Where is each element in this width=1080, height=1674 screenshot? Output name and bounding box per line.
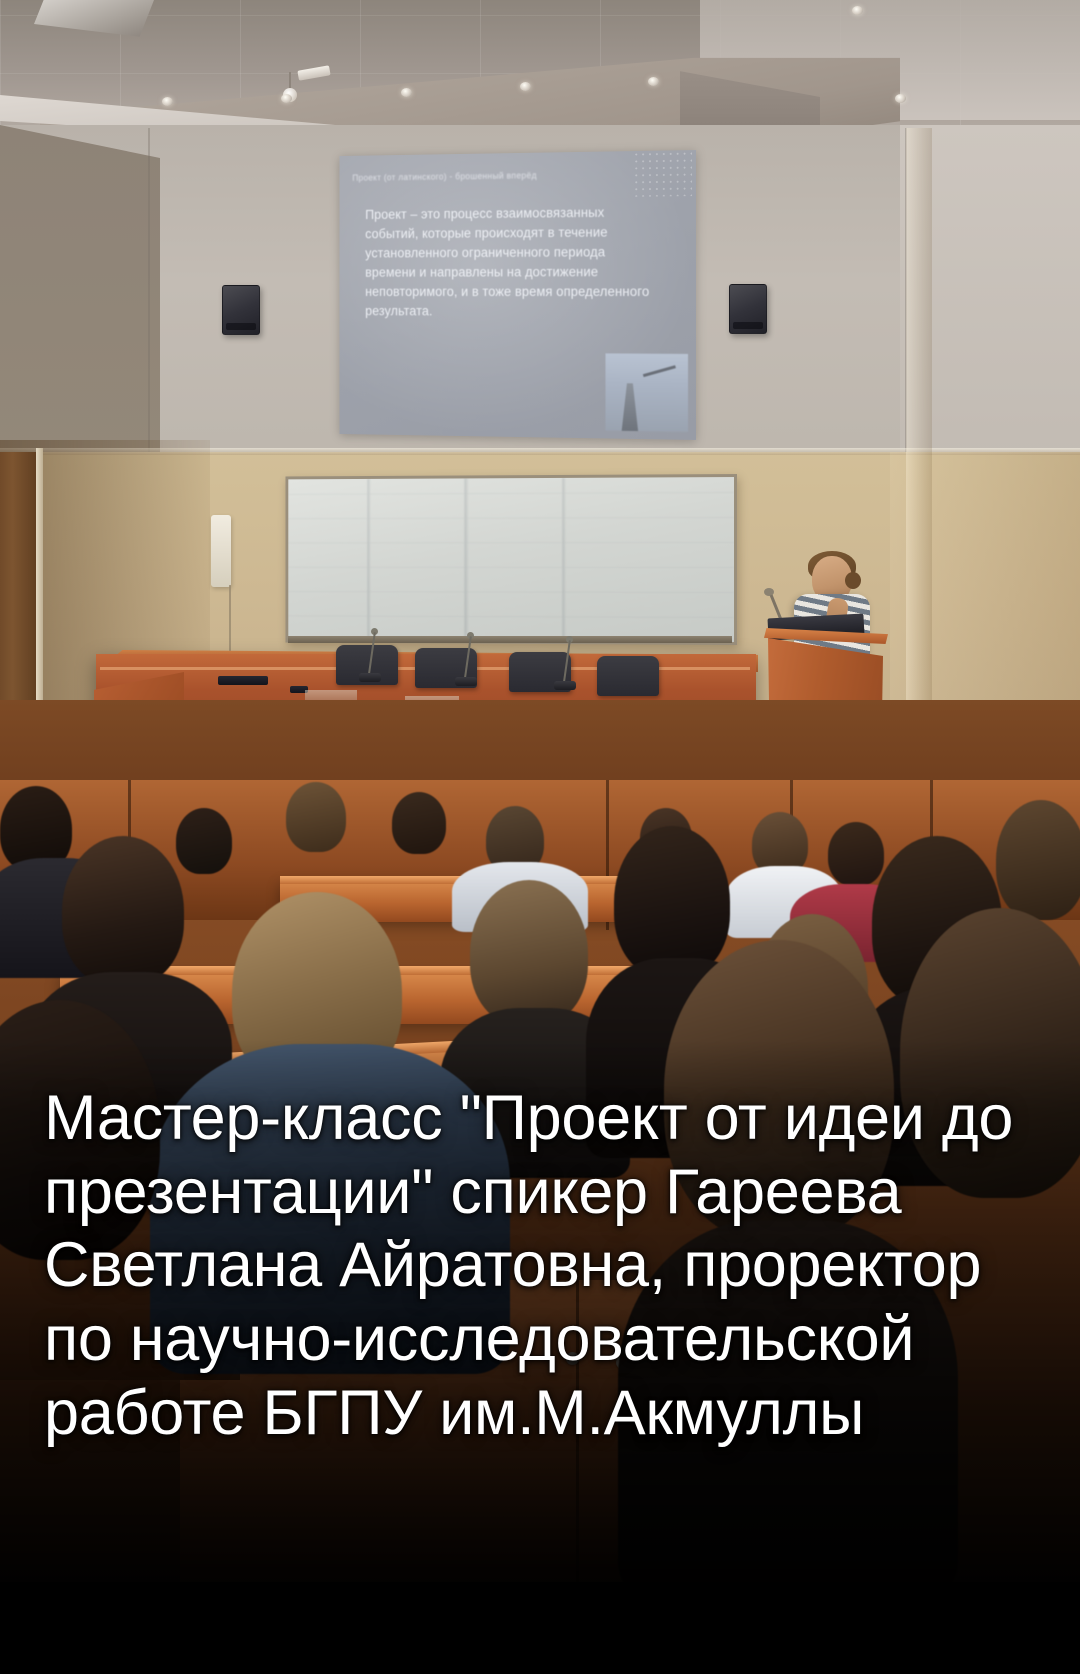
projection-screen: Проект (от латинского) - брошенный вперё…: [340, 150, 696, 440]
ceiling-spotlight: [401, 88, 412, 97]
microphone-base: [455, 677, 477, 686]
caption-text: Мастер-класс "Проект от идеи до презента…: [44, 1082, 1024, 1451]
audience-head: [996, 800, 1080, 920]
audience-head: [62, 836, 184, 986]
presidium-chair: [597, 656, 659, 696]
desk-object: [218, 676, 268, 685]
slide-inset-photo: [605, 353, 688, 431]
wall-speaker-left: [222, 285, 260, 335]
ceiling-spotlight: [852, 6, 863, 15]
audience-head: [176, 808, 232, 874]
ceiling-spotlight: [520, 82, 531, 91]
microphone-base: [359, 673, 381, 682]
audience-head: [286, 782, 346, 852]
audience-head: [392, 792, 446, 854]
ceiling-spotlight: [162, 97, 173, 106]
upper-wall-left-shadow: [0, 125, 160, 455]
gooseneck-microphone: [357, 630, 383, 682]
ceiling-spotlight: [895, 94, 906, 103]
slide-body-text: Проект – это процесс взаимосвязанных соб…: [365, 202, 650, 321]
whiteboard: [285, 474, 737, 645]
audience-head: [614, 826, 730, 978]
ceiling-spotlight: [648, 77, 659, 86]
microphone-stem: [464, 636, 472, 678]
gooseneck-microphone: [552, 638, 578, 690]
audience-head: [828, 822, 884, 886]
audience-head: [470, 880, 588, 1026]
microphone-base: [554, 681, 576, 690]
caption-solid-background: [0, 1582, 1080, 1674]
gooseneck-microphone: [453, 634, 479, 686]
slide-header-bar: Проект (от латинского) - брошенный вперё…: [352, 168, 686, 192]
wall-seam: [148, 128, 150, 468]
whiteboard-tray: [288, 636, 732, 643]
wall-mounted-panel: [211, 515, 231, 587]
ceiling-spotlight: [281, 94, 292, 103]
microphone-stem: [368, 632, 376, 674]
social-post-photo-card: Проект (от латинского) - брошенный вперё…: [0, 0, 1080, 1674]
wall-speaker-right: [729, 284, 767, 334]
whiteboard-writing: [288, 477, 734, 642]
microphone-stem: [563, 640, 571, 682]
presenter-hair-bun: [845, 572, 861, 589]
